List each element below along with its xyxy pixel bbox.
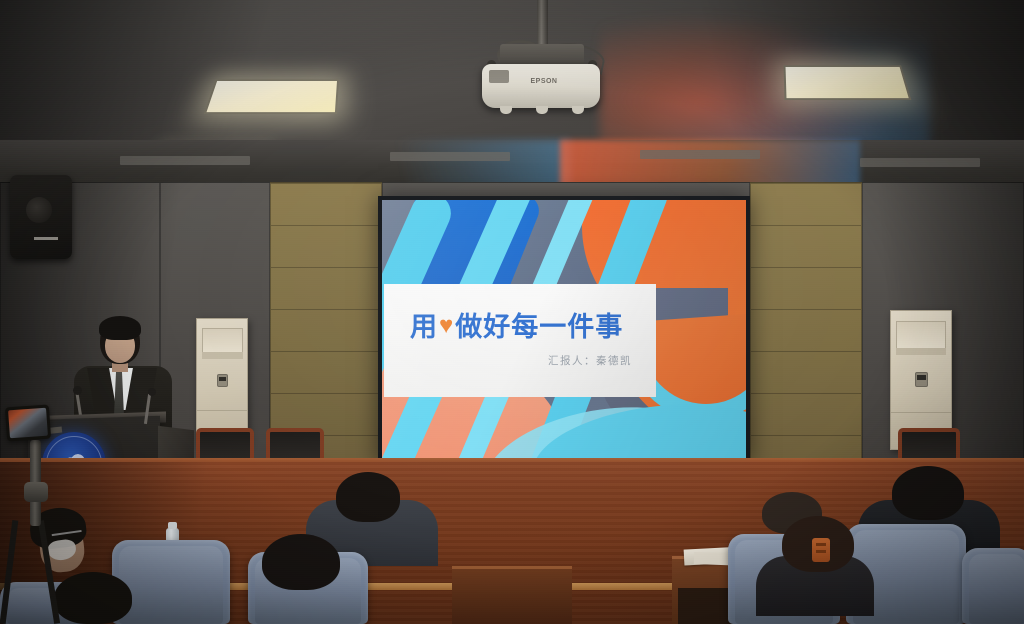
microphone-head-right bbox=[148, 388, 156, 396]
projector-mount-pole bbox=[537, 0, 548, 46]
conference-hall-scene: EPSON bbox=[0, 0, 1024, 624]
wall-speaker bbox=[10, 175, 72, 259]
auditorium-seat-5 bbox=[962, 548, 1024, 624]
hair-clip bbox=[812, 538, 830, 562]
gimbal-motor bbox=[24, 482, 48, 502]
slide-title-suffix: 做好每一件事 bbox=[455, 313, 623, 341]
microphone-head-left bbox=[73, 386, 82, 395]
ac-seam-left bbox=[197, 410, 247, 411]
ac-vent-lip-right bbox=[896, 348, 945, 355]
slide-presenter-credit: 汇报人：秦德凯 bbox=[410, 353, 646, 368]
audience-desk-left bbox=[452, 566, 572, 624]
soffit-vent-1 bbox=[120, 156, 250, 165]
air-conditioner-left[interactable] bbox=[196, 318, 248, 444]
projector-foot-center bbox=[536, 106, 548, 114]
smartphone-screen bbox=[8, 408, 48, 439]
projection-screen-frame: 用 ♥ 做好每一件事 汇报人：秦德凯 bbox=[378, 196, 750, 464]
slide-text-card: 用 ♥ 做好每一件事 汇报人：秦德凯 bbox=[384, 284, 656, 397]
audience-member-front-head bbox=[262, 534, 340, 590]
ac-display-left[interactable] bbox=[217, 374, 228, 388]
speaker-cone bbox=[26, 197, 52, 223]
ceiling-light-panel-1 bbox=[204, 79, 339, 114]
heart-icon: ♥ bbox=[439, 314, 454, 338]
projector-brand-label: EPSON bbox=[527, 78, 561, 86]
water-bottle-cap bbox=[168, 522, 177, 529]
projector-lens bbox=[489, 70, 509, 83]
projector-foot-left bbox=[500, 106, 512, 114]
soffit-vent-2 bbox=[390, 152, 510, 161]
smartphone-on-gimbal[interactable] bbox=[5, 405, 51, 442]
wall-panel-seams-2 bbox=[751, 183, 861, 481]
ac-display-right[interactable] bbox=[915, 372, 928, 387]
ac-vent-lip-left bbox=[202, 352, 243, 358]
ceiling-light-panel-2 bbox=[784, 65, 912, 100]
presenter-hair bbox=[99, 316, 141, 340]
soffit-vent-4 bbox=[860, 158, 980, 167]
speaker-badge bbox=[34, 237, 58, 240]
audience-member-right-head bbox=[892, 466, 964, 520]
ac-seam-right bbox=[891, 412, 951, 413]
soffit-vent-3 bbox=[640, 150, 760, 159]
projection-screen: 用 ♥ 做好每一件事 汇报人：秦德凯 bbox=[382, 200, 746, 460]
audience-member-center-head bbox=[336, 472, 400, 522]
slide-title-prefix: 用 bbox=[410, 313, 438, 341]
projector-bracket bbox=[500, 44, 584, 66]
slide-title: 用 ♥ 做好每一件事 bbox=[410, 313, 646, 341]
auditorium-seat-1 bbox=[112, 540, 230, 624]
projector-foot-right bbox=[572, 106, 584, 114]
wall-panel-tan-2 bbox=[750, 182, 862, 482]
audience-member-frontleft-head bbox=[54, 572, 132, 624]
